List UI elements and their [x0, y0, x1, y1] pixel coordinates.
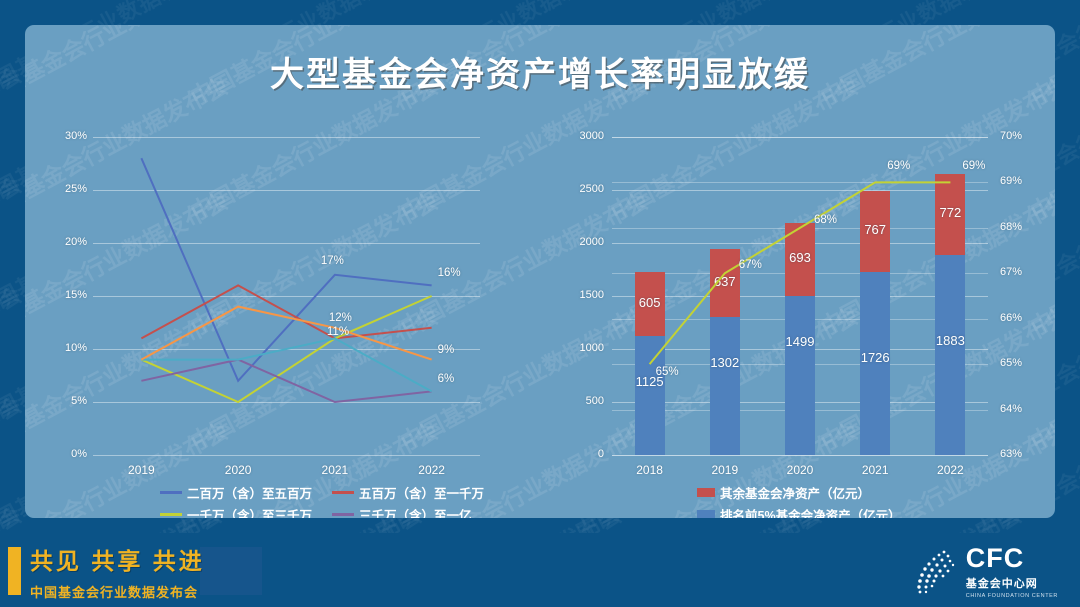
- logo-name-cn: 基金会中心网: [966, 575, 1058, 591]
- legend-label: 其余基金会净资产（亿元）: [720, 483, 870, 502]
- data-point-label: 12%: [329, 312, 352, 324]
- share-value-label: 69%: [962, 160, 985, 172]
- left-chart-legend: 二百万（含）至五百万五百万（含）至一千万一千万（含）至三千万三千万（含）至一亿一…: [160, 483, 496, 518]
- legend-label: 二百万（含）至五百万: [187, 483, 312, 502]
- legend-color-line: [160, 513, 182, 516]
- legend-label: 一千万（含）至三千万: [187, 505, 312, 518]
- footer-color-block: [200, 547, 262, 595]
- legend-item: 二百万（含）至五百万: [160, 483, 332, 502]
- net-assets-bar-chart: 05001000150020002500300063%64%65%66%67%6…: [550, 125, 1050, 515]
- legend-row: 其余基金会净资产（亿元）: [697, 483, 913, 502]
- data-point-label: 11%: [327, 326, 349, 338]
- footer-bar: 共见 共享 共进 中国基金会行业数据发布会 CFC 基金会中心网 CHINA F…: [0, 533, 1080, 607]
- page-title: 大型基金会净资产增长率明显放缓: [25, 47, 1055, 96]
- cfc-network-logo-icon: [914, 548, 960, 596]
- legend-label: 三千万（含）至一亿: [359, 505, 472, 518]
- logo-text-group: CFC 基金会中心网 CHINA FOUNDATION CENTER: [966, 545, 1058, 599]
- legend-color-line: [332, 513, 354, 516]
- legend-label: 五百万（含）至一千万: [359, 483, 484, 502]
- line-series: [141, 285, 431, 338]
- footer-branding: 共见 共享 共进 中国基金会行业数据发布会: [30, 542, 205, 601]
- line-series: [141, 338, 431, 391]
- logo-name-en: CHINA FOUNDATION CENTER: [966, 593, 1058, 599]
- data-point-label: 17%: [321, 255, 344, 267]
- share-line-series: [550, 125, 1050, 515]
- data-point-label: 16%: [438, 267, 461, 279]
- legend-label: 排名前5%基金会净资产（亿元）: [720, 505, 901, 518]
- legend-item: 其余基金会净资产（亿元）: [697, 483, 870, 502]
- growth-rate-line-chart: 0%5%10%15%20%25%30%201920202021202217%16…: [35, 125, 540, 515]
- right-chart-legend: 其余基金会净资产（亿元）排名前5%基金会净资产（亿元）排名前5%基金会净资产占比: [697, 483, 913, 518]
- legend-row: 一千万（含）至三千万三千万（含）至一亿: [160, 505, 496, 518]
- share-value-label: 65%: [656, 366, 679, 378]
- line-series: [141, 158, 431, 381]
- data-point-label: 9%: [438, 344, 455, 356]
- legend-row: 排名前5%基金会净资产（亿元）: [697, 505, 913, 518]
- legend-row: 二百万（含）至五百万五百万（含）至一千万: [160, 483, 496, 502]
- logo-abbr: CFC: [966, 545, 1058, 572]
- legend-color-box: [697, 488, 715, 497]
- legend-item: 排名前5%基金会净资产（亿元）: [697, 505, 901, 518]
- line-series: [141, 360, 431, 402]
- legend-color-box: [697, 510, 715, 518]
- legend-item: 一千万（含）至三千万: [160, 505, 332, 518]
- slide-panel: 大型基金会净资产增长率明显放缓 0%5%10%15%20%25%30%20192…: [25, 25, 1055, 518]
- legend-color-line: [332, 491, 354, 494]
- legend-item: 五百万（含）至一千万: [332, 483, 484, 502]
- share-value-label: 68%: [814, 214, 837, 226]
- data-point-label: 6%: [438, 373, 455, 385]
- cfc-logo: CFC 基金会中心网 CHINA FOUNDATION CENTER: [914, 545, 1058, 599]
- share-value-label: 69%: [887, 160, 910, 172]
- legend-color-line: [160, 491, 182, 494]
- footer-subtitle: 中国基金会行业数据发布会: [30, 582, 205, 601]
- footer-slogan: 共见 共享 共进: [30, 542, 205, 576]
- line-series-group: [35, 125, 540, 515]
- share-value-label: 67%: [739, 259, 762, 271]
- legend-item: 三千万（含）至一亿: [332, 505, 472, 518]
- footer-accent-stripe: [8, 547, 21, 595]
